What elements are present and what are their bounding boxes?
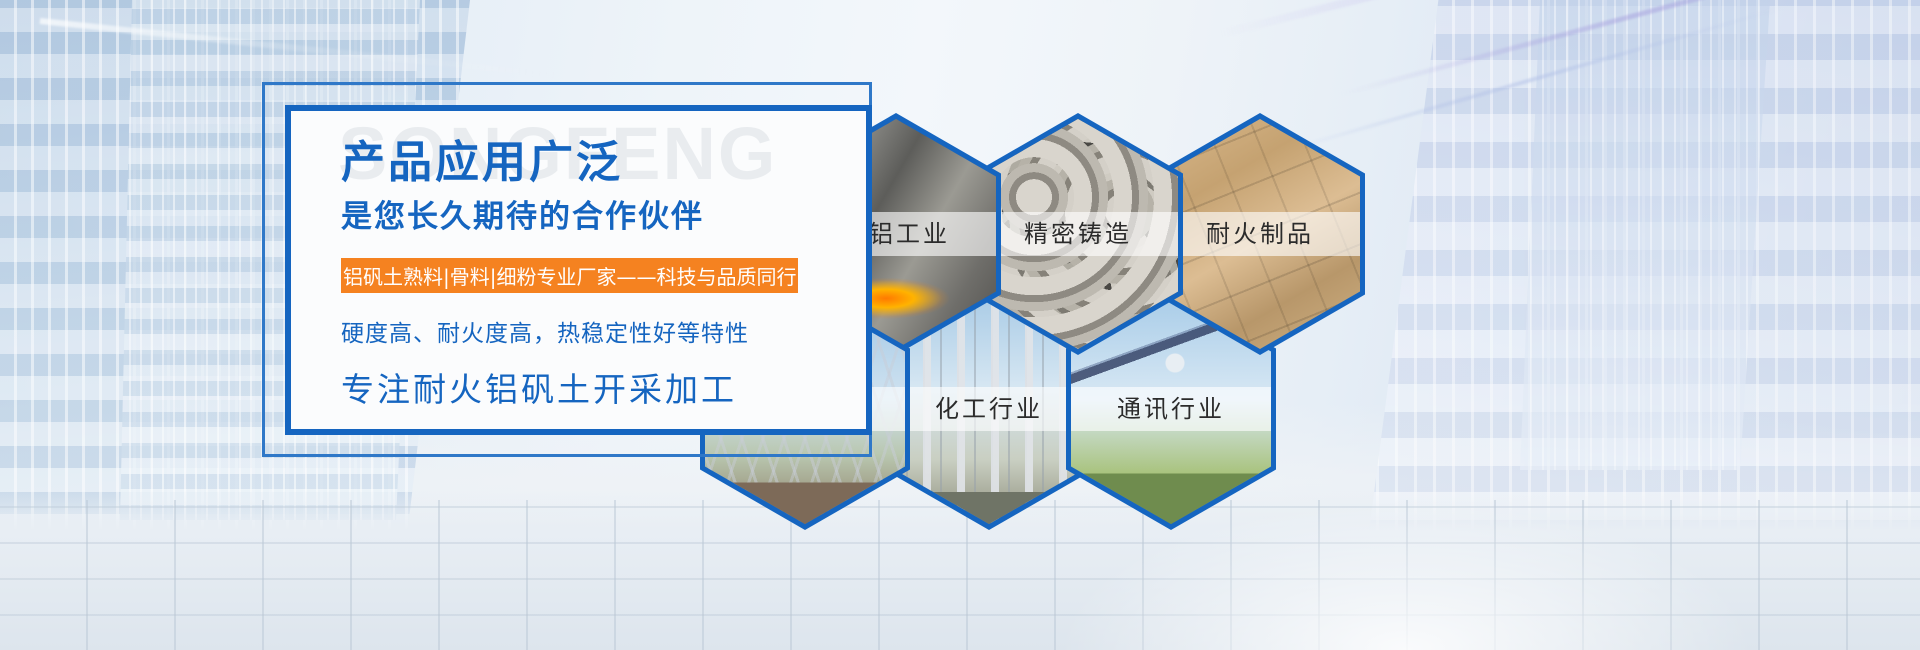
- banner-text-panel: SONGFENG 产品应用广泛 是您长久期待的合作伙伴 铝矾土熟料|骨料|细粉专…: [291, 111, 866, 429]
- hex-label-casting: 精密铸造: [978, 212, 1178, 256]
- banner-slogan: 专注耐火铝矾土开采加工: [341, 373, 737, 406]
- promo-banner: 化工行业 通讯行业 耐火制品 精密铸造 炼铝工业 石油行业: [0, 0, 1920, 650]
- tagline-text: 铝矾土熟料|骨料|细粉专业厂家——科技与品质同行: [343, 261, 796, 290]
- banner-subheadline: 是您长久期待的合作伙伴: [341, 201, 704, 232]
- banner-headline: 产品应用广泛: [341, 141, 623, 185]
- banner-feature-line: 硬度高、耐火度高，热稳定性好等特性: [341, 323, 749, 346]
- tagline-badge: 铝矾土熟料|骨料|细粉专业厂家——科技与品质同行: [341, 258, 798, 293]
- hex-label-chemical: 化工行业: [889, 387, 1089, 431]
- hex-label-refractory: 耐火制品: [1160, 212, 1360, 256]
- hex-label-telecom: 通讯行业: [1071, 387, 1271, 431]
